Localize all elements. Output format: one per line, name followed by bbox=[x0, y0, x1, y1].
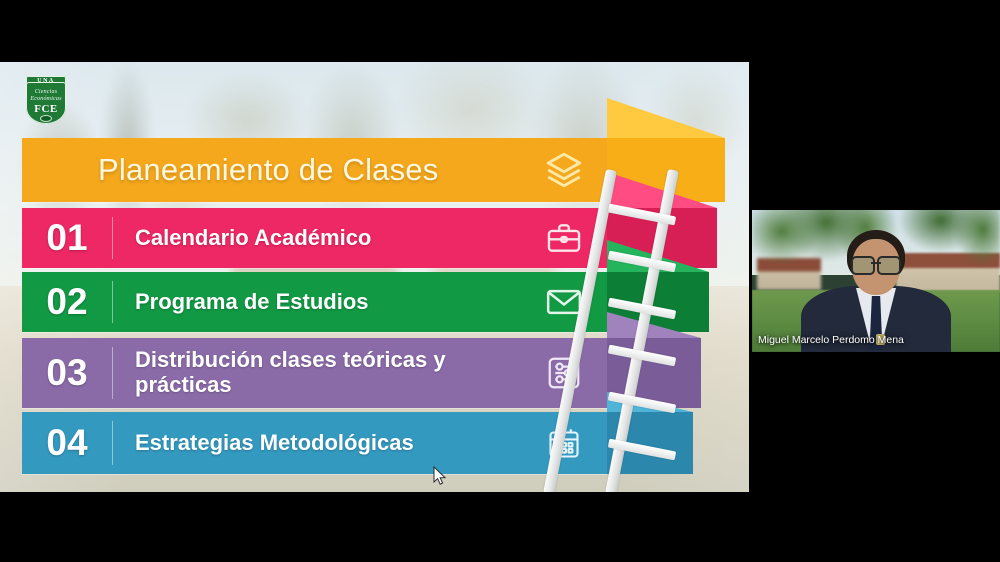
row-03-front-face: 03 Distribución clases teóricas y prácti… bbox=[22, 338, 607, 408]
row-02-number: 02 bbox=[22, 281, 112, 323]
participant-video-tile[interactable]: Miguel Marcelo Perdomo Mena bbox=[752, 210, 1000, 352]
shared-slide-region[interactable]: UNA Ciencias Económicas FCE Planeamiento… bbox=[0, 62, 749, 492]
row-03-label: Distribución clases teóricas y prácticas bbox=[113, 348, 521, 397]
row-01-label: Calendario Académico bbox=[113, 226, 521, 251]
ladder-rung bbox=[608, 251, 676, 273]
slide-title-block: Planeamiento de Clases bbox=[22, 138, 607, 202]
slide-title-text: Planeamiento de Clases bbox=[22, 152, 521, 188]
stacked-blocks-graphic: Planeamiento de Clases 01 bbox=[0, 62, 749, 492]
ladder-decoration-icon bbox=[600, 170, 730, 492]
ladder-rung bbox=[608, 392, 676, 414]
slide-row-02: 02 Programa de Estudios bbox=[22, 272, 607, 332]
slide-row-03: 03 Distribución clases teóricas y prácti… bbox=[22, 338, 607, 408]
slide-row-01: 01 Calendario Académico bbox=[22, 208, 607, 268]
layers-icon bbox=[521, 149, 607, 191]
glasses-right-lens bbox=[877, 256, 901, 275]
row-04-front-face: 04 Estrategias Metodológicas bbox=[22, 412, 607, 474]
slide-row-04: 04 Estrategias Metodológicas bbox=[22, 412, 607, 474]
title-block-top-face bbox=[607, 98, 725, 138]
row-03-number: 03 bbox=[22, 352, 112, 394]
row-02-front-face: 02 Programa de Estudios bbox=[22, 272, 607, 332]
mouse-cursor bbox=[433, 466, 447, 486]
glasses-icon bbox=[851, 256, 901, 271]
row-04-number: 04 bbox=[22, 422, 112, 464]
row-02-label: Programa de Estudios bbox=[113, 290, 521, 315]
row-01-front-face: 01 Calendario Académico bbox=[22, 208, 607, 268]
screen-share-canvas: UNA Ciencias Económicas FCE Planeamiento… bbox=[0, 0, 1000, 562]
row-04-label: Estrategias Metodológicas bbox=[113, 431, 521, 456]
glasses-left-lens bbox=[851, 256, 875, 275]
row-01-number: 01 bbox=[22, 217, 112, 259]
glasses-bridge bbox=[871, 262, 881, 264]
title-block-front-face: Planeamiento de Clases bbox=[22, 138, 607, 202]
participant-name-label: Miguel Marcelo Perdomo Mena bbox=[758, 334, 904, 346]
